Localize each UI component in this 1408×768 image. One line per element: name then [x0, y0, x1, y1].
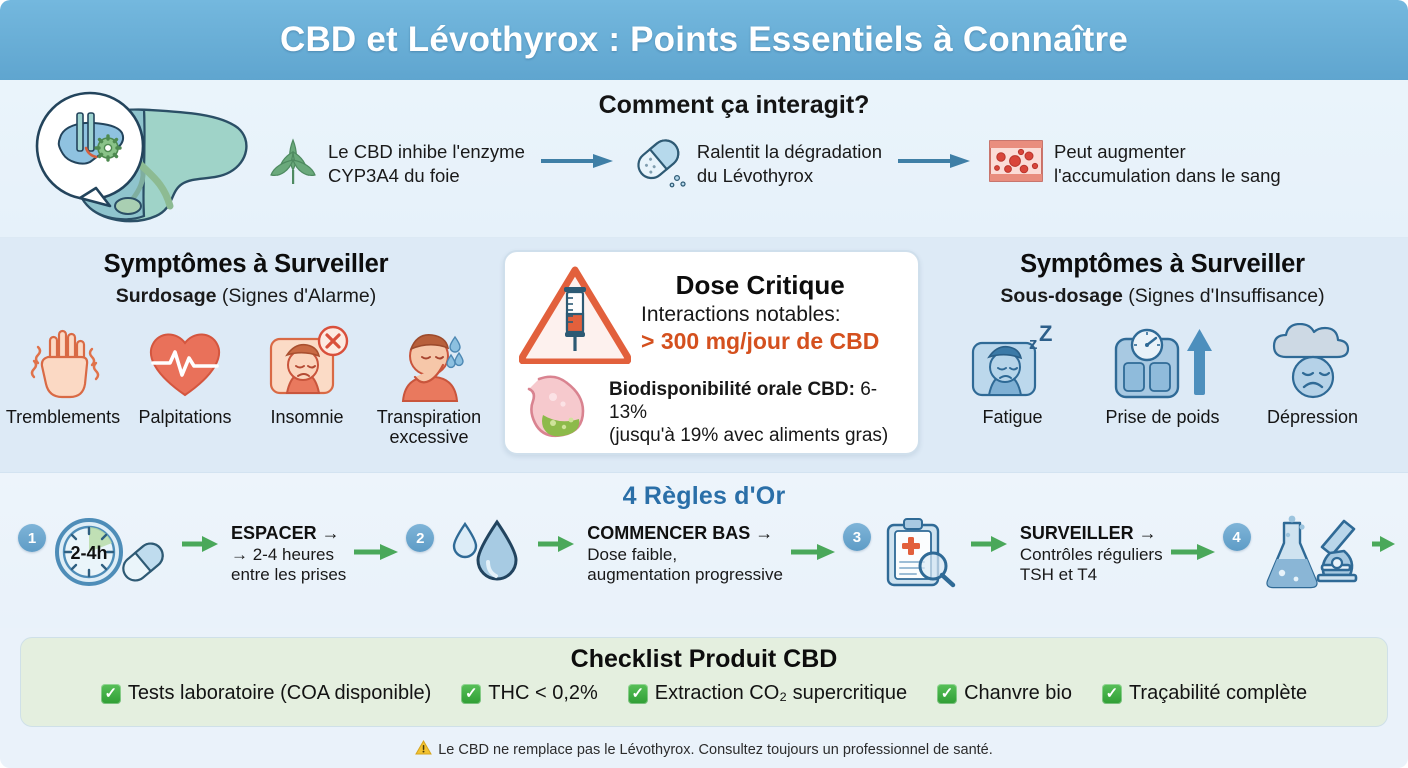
- symptoms-left-subtitle: Surdosage (Signes d'Alarme): [0, 285, 492, 308]
- rules-row: 1 2-4h: [0, 511, 1408, 594]
- checklist-item[interactable]: ✓ Extraction CO₂ supercritique: [628, 682, 907, 705]
- symptoms-right-title: Symptômes à Surveiller: [922, 250, 1403, 279]
- infographic-poster: CBD et Lévothyrox : Points Essentiels à …: [0, 0, 1408, 768]
- flow-step-2: Ralentit la dégradation du Lévothyrox: [631, 132, 882, 195]
- symptoms-overdose-column: Symptômes à Surveiller Surdosage (Signes…: [0, 238, 492, 472]
- check-icon: ✓: [101, 684, 121, 704]
- symptom-item: Prise de poids: [1090, 320, 1236, 428]
- liver-with-gear-callout-icon: [24, 88, 256, 233]
- rule-text-2: COMMENCER BAS → Dose faible, augmentatio…: [587, 523, 783, 585]
- symptom-item: Dépression: [1240, 320, 1386, 428]
- trembling-hand-icon: [4, 320, 122, 406]
- symptoms-section: Symptômes à Surveiller Surdosage (Signes…: [0, 238, 1408, 473]
- insomnia-face-icon: [248, 320, 366, 406]
- check-icon: ✓: [937, 684, 957, 704]
- interaction-section: Comment ça interagit?: [0, 80, 1408, 238]
- symptoms-right-items: z Z Fatigue: [922, 320, 1403, 428]
- checklist-item-label: Tests laboratoire (COA disponible): [128, 682, 431, 705]
- rule-item-3: 3: [843, 515, 1163, 594]
- symptom-label: Prise de poids: [1090, 408, 1236, 428]
- checklist-item-label: Chanvre bio: [964, 682, 1072, 705]
- dose-card-bioavailability: Biodisponibilité orale CBD: 6-13% (jusqu…: [609, 373, 902, 447]
- checklist-items: ✓ Tests laboratoire (COA disponible) ✓ T…: [21, 682, 1387, 705]
- symptom-item: z Z Fatigue: [940, 320, 1086, 428]
- rule-arrow-icon: [536, 535, 576, 558]
- flow-arrow-2-icon: [896, 151, 974, 176]
- rule-separator-arrow-2-icon: [789, 543, 837, 566]
- cannabis-leaf-icon: [268, 132, 318, 195]
- warning-triangle-icon: [415, 740, 432, 760]
- symptom-item: Tremblements: [4, 320, 122, 428]
- page-title: CBD et Lévothyrox : Points Essentiels à …: [280, 20, 1128, 60]
- symptoms-underdose-column: Symptômes à Surveiller Sous-dosage (Sign…: [922, 238, 1403, 472]
- svg-text:z: z: [1029, 334, 1038, 353]
- checklist-panel: Checklist Produit CBD ✓ Tests laboratoir…: [20, 637, 1388, 727]
- header-banner: CBD et Lévothyrox : Points Essentiels à …: [0, 0, 1408, 80]
- svg-text:Z: Z: [1039, 323, 1052, 346]
- checklist-item[interactable]: ✓ Traçabilité complète: [1102, 682, 1307, 705]
- dose-card-line: Interactions notables:: [641, 303, 879, 327]
- sweating-person-icon: [370, 320, 488, 406]
- checklist-item-label: Extraction CO₂ supercritique: [655, 682, 907, 705]
- rule-number-badge: 3: [843, 523, 871, 551]
- symptom-label: Dépression: [1240, 408, 1386, 428]
- stomach-icon: [519, 373, 601, 444]
- dose-card-title: Dose Critique: [641, 270, 879, 301]
- rule-arrow-icon: [969, 535, 1009, 558]
- footnote: Le CBD ne remplace pas le Lévothyrox. Co…: [0, 740, 1408, 760]
- rule-arrow-icon: [1371, 535, 1397, 558]
- dose-card-highlight: > 300 mg/jour de CBD: [641, 328, 879, 355]
- checklist-item-label: THC < 0,2%: [488, 682, 597, 705]
- symptom-item: Insomnie: [248, 320, 366, 428]
- footnote-text: Le CBD ne remplace pas le Lévothyrox. Co…: [438, 742, 993, 758]
- checklist-item[interactable]: ✓ Chanvre bio: [937, 682, 1072, 705]
- symptom-label: Insomnie: [248, 408, 366, 428]
- checklist-item[interactable]: ✓ THC < 0,2%: [461, 682, 597, 705]
- check-icon: ✓: [461, 684, 481, 704]
- symptom-label: Palpitations: [126, 408, 244, 428]
- rule-item-2: 2 COMMENCER BAS → Dose fai: [406, 516, 783, 593]
- flow-step-3-text: Peut augmenter l'accumulation dans le sa…: [1054, 140, 1281, 187]
- symptoms-right-subtitle: Sous-dosage (Signes d'Insuffisance): [922, 285, 1403, 308]
- clock-label: 2-4h: [70, 543, 107, 563]
- interaction-flow: Le CBD inhibe l'enzyme CYP3A4 du foie: [268, 132, 1400, 195]
- blood-vessel-icon: [988, 135, 1044, 192]
- flow-arrow-1-icon: [539, 151, 617, 176]
- rule-text-1: ESPACER → → 2-4 heures entre les prises: [231, 523, 346, 585]
- flow-step-1-text: Le CBD inhibe l'enzyme CYP3A4 du foie: [328, 140, 525, 187]
- check-icon: ✓: [628, 684, 648, 704]
- flow-step-1: Le CBD inhibe l'enzyme CYP3A4 du foie: [268, 132, 525, 195]
- symptoms-left-items: Tremblements Palpitations: [0, 320, 492, 448]
- flow-step-3: Peut augmenter l'accumulation dans le sa…: [988, 135, 1281, 192]
- heart-palpitations-icon: [126, 320, 244, 406]
- rule-number-badge: 2: [406, 524, 434, 552]
- symptom-item: Palpitations: [126, 320, 244, 428]
- symptom-label: Tremblements: [4, 408, 122, 428]
- symptoms-left-title: Symptômes à Surveiller: [0, 250, 492, 279]
- depression-cloud-face-icon: [1240, 320, 1386, 406]
- clipboard-magnifier-icon: [878, 515, 960, 594]
- checklist-item-label: Traçabilité complète: [1129, 682, 1307, 705]
- dose-critique-card: Dose Critique Interactions notables: > 3…: [503, 250, 920, 455]
- rule-separator-arrow-1-icon: [352, 543, 400, 566]
- rule-item-1: 1 2-4h: [18, 516, 346, 593]
- rule-separator-arrow-3-icon: [1169, 543, 1217, 566]
- rule-number-badge: 1: [18, 524, 46, 552]
- symptom-item: Transpirationexcessive: [370, 320, 488, 448]
- rule-text-3: SURVEILLER → Contrôles réguliers TSH et …: [1020, 523, 1163, 585]
- symptom-label: Fatigue: [940, 408, 1086, 428]
- rules-section: 4 Règles d'Or 1: [0, 473, 1408, 628]
- clock-2-4h-and-capsule-icon: 2-4h: [53, 516, 171, 593]
- water-drops-icon: [441, 516, 527, 593]
- sleeping-fatigue-icon: z Z: [940, 320, 1086, 406]
- check-icon: ✓: [1102, 684, 1122, 704]
- symptom-label: Transpirationexcessive: [370, 408, 488, 448]
- checklist-item[interactable]: ✓ Tests laboratoire (COA disponible): [101, 682, 431, 705]
- checklist-title: Checklist Produit CBD: [21, 645, 1387, 674]
- warning-triangle-syringe-icon: [519, 264, 631, 369]
- rules-title: 4 Règles d'Or: [0, 473, 1408, 511]
- rule-number-badge: 4: [1223, 523, 1251, 551]
- rule-item-4: 4: [1223, 515, 1408, 594]
- flow-step-2-text: Ralentit la dégradation du Lévothyrox: [697, 140, 882, 187]
- capsule-pill-icon: [631, 132, 687, 195]
- rule-arrow-icon: [180, 535, 220, 558]
- weight-scale-up-arrow-icon: [1090, 320, 1236, 406]
- flask-microscope-icon: [1258, 515, 1362, 594]
